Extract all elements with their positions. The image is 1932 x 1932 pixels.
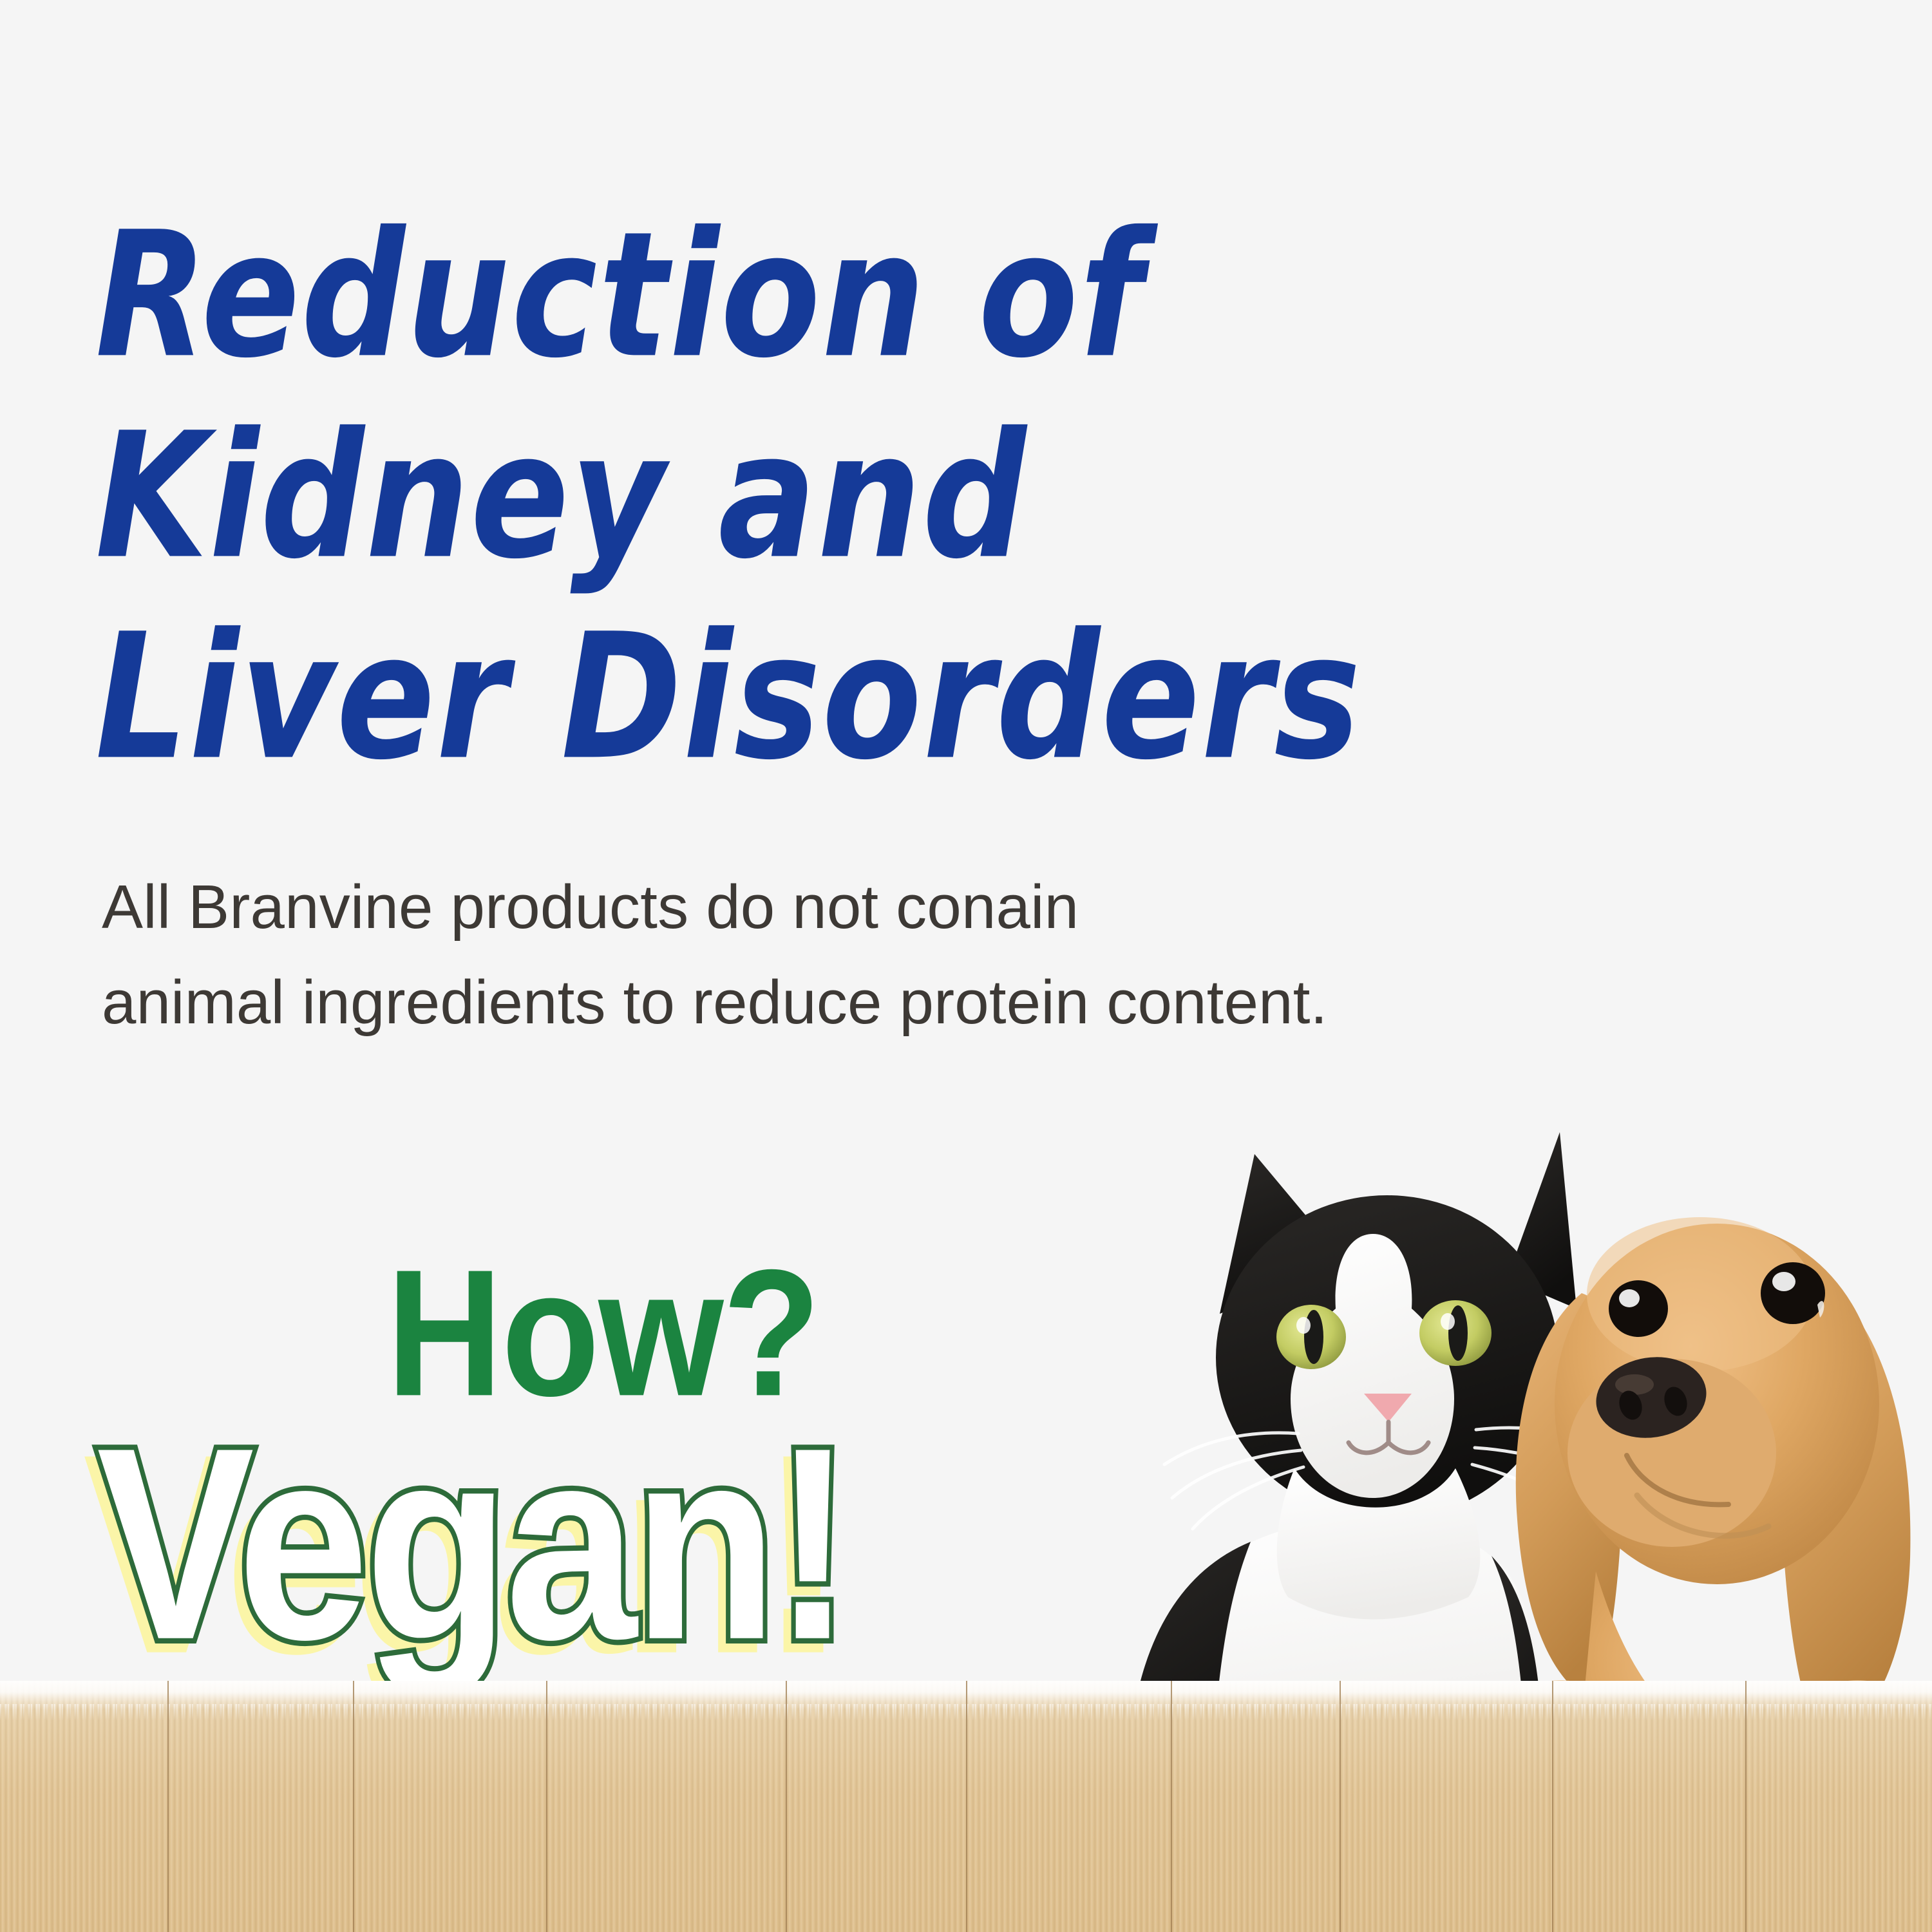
fence-board-bleached-top (787, 1681, 966, 1709)
fence-board-bleached-top (967, 1681, 1171, 1709)
fence-board (1553, 1681, 1747, 1932)
headline-line-2: Kidney and (95, 394, 1625, 598)
headline-line-1: Reduction of (95, 193, 1625, 397)
cat-left-pupil (1304, 1310, 1323, 1364)
fence-board-bleached-top (1172, 1681, 1340, 1709)
fence-board-bleached-top (1553, 1681, 1745, 1709)
dog-right-eye (1761, 1262, 1825, 1324)
dog-right-eye-highlight (1772, 1272, 1795, 1291)
fence-board-bleached-top (169, 1681, 353, 1709)
fence-board-bleached-top (0, 1681, 167, 1709)
fence-board (967, 1681, 1172, 1932)
fence-board-bleached-top (547, 1681, 786, 1709)
page-title: Reduction of Kidney and Liver Disorders (95, 193, 1641, 768)
wooden-fence (0, 1681, 1932, 1932)
fence-board (1341, 1681, 1553, 1932)
subtitle-line-2: animal ingredients to reduce protein con… (102, 955, 1776, 1050)
subtitle-line-1: All Branvine products do not conain (102, 860, 1776, 955)
fence-board-bleached-top (354, 1681, 546, 1709)
fence-board (1172, 1681, 1341, 1932)
dog-left-eye (1609, 1280, 1668, 1337)
subtitle-paragraph: All Branvine products do not conain anim… (102, 860, 1776, 1050)
dog-left-eye-highlight (1619, 1289, 1640, 1307)
fence-board-bleached-top (1747, 1681, 1932, 1709)
poster-canvas: Reduction of Kidney and Liver Disorders … (0, 0, 1932, 1932)
fence-board (787, 1681, 967, 1932)
fence-board (169, 1681, 354, 1932)
cat-right-pupil (1448, 1305, 1468, 1361)
fence-board (0, 1681, 169, 1932)
fence-board (354, 1681, 547, 1932)
fence-board (547, 1681, 787, 1932)
fence-board (1747, 1681, 1932, 1932)
vegan-label: Vegan! (97, 1407, 848, 1681)
cat-right-eye-highlight (1441, 1313, 1455, 1330)
fence-board-bleached-top (1341, 1681, 1552, 1709)
headline-line-3: Liver Disorders (95, 595, 1625, 799)
cat-left-eye-highlight (1296, 1317, 1311, 1334)
dog-nose-highlight (1615, 1374, 1654, 1395)
